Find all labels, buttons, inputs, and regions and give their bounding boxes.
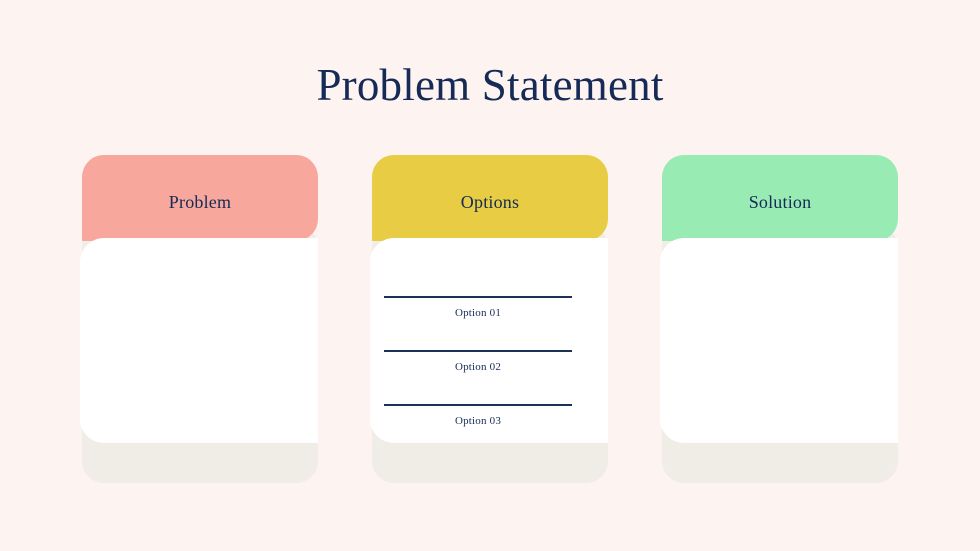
- slide-canvas: Problem Statement Problem Options Option…: [0, 0, 980, 551]
- option-rule: [384, 296, 572, 298]
- card-header-label-solution: Solution: [662, 155, 898, 241]
- card-header-options[interactable]: Options: [372, 155, 608, 241]
- option-rule: [384, 404, 572, 406]
- list-item[interactable]: Option 03: [384, 404, 594, 458]
- option-label: Option 03: [384, 414, 572, 429]
- card-header-label-problem: Problem: [82, 155, 318, 241]
- options-list: Option 01 Option 02 Option 03: [384, 296, 594, 458]
- list-item[interactable]: Option 01: [384, 296, 594, 350]
- card-options[interactable]: Options Option 01 Option 02 Option 03: [372, 155, 608, 483]
- option-label: Option 02: [384, 360, 572, 375]
- card-body-solution[interactable]: [660, 238, 898, 443]
- card-solution[interactable]: Solution: [662, 155, 898, 483]
- page-title: Problem Statement: [0, 56, 980, 114]
- option-label: Option 01: [384, 306, 572, 321]
- option-rule: [384, 350, 572, 352]
- card-body-fill: [760, 238, 898, 443]
- card-problem[interactable]: Problem: [82, 155, 318, 483]
- card-body-fill: [180, 238, 318, 443]
- card-body-problem[interactable]: [80, 238, 318, 443]
- card-header-label-options: Options: [372, 155, 608, 241]
- card-header-solution[interactable]: Solution: [662, 155, 898, 241]
- list-item[interactable]: Option 02: [384, 350, 594, 404]
- card-body-options[interactable]: Option 01 Option 02 Option 03: [370, 238, 608, 443]
- card-header-problem[interactable]: Problem: [82, 155, 318, 241]
